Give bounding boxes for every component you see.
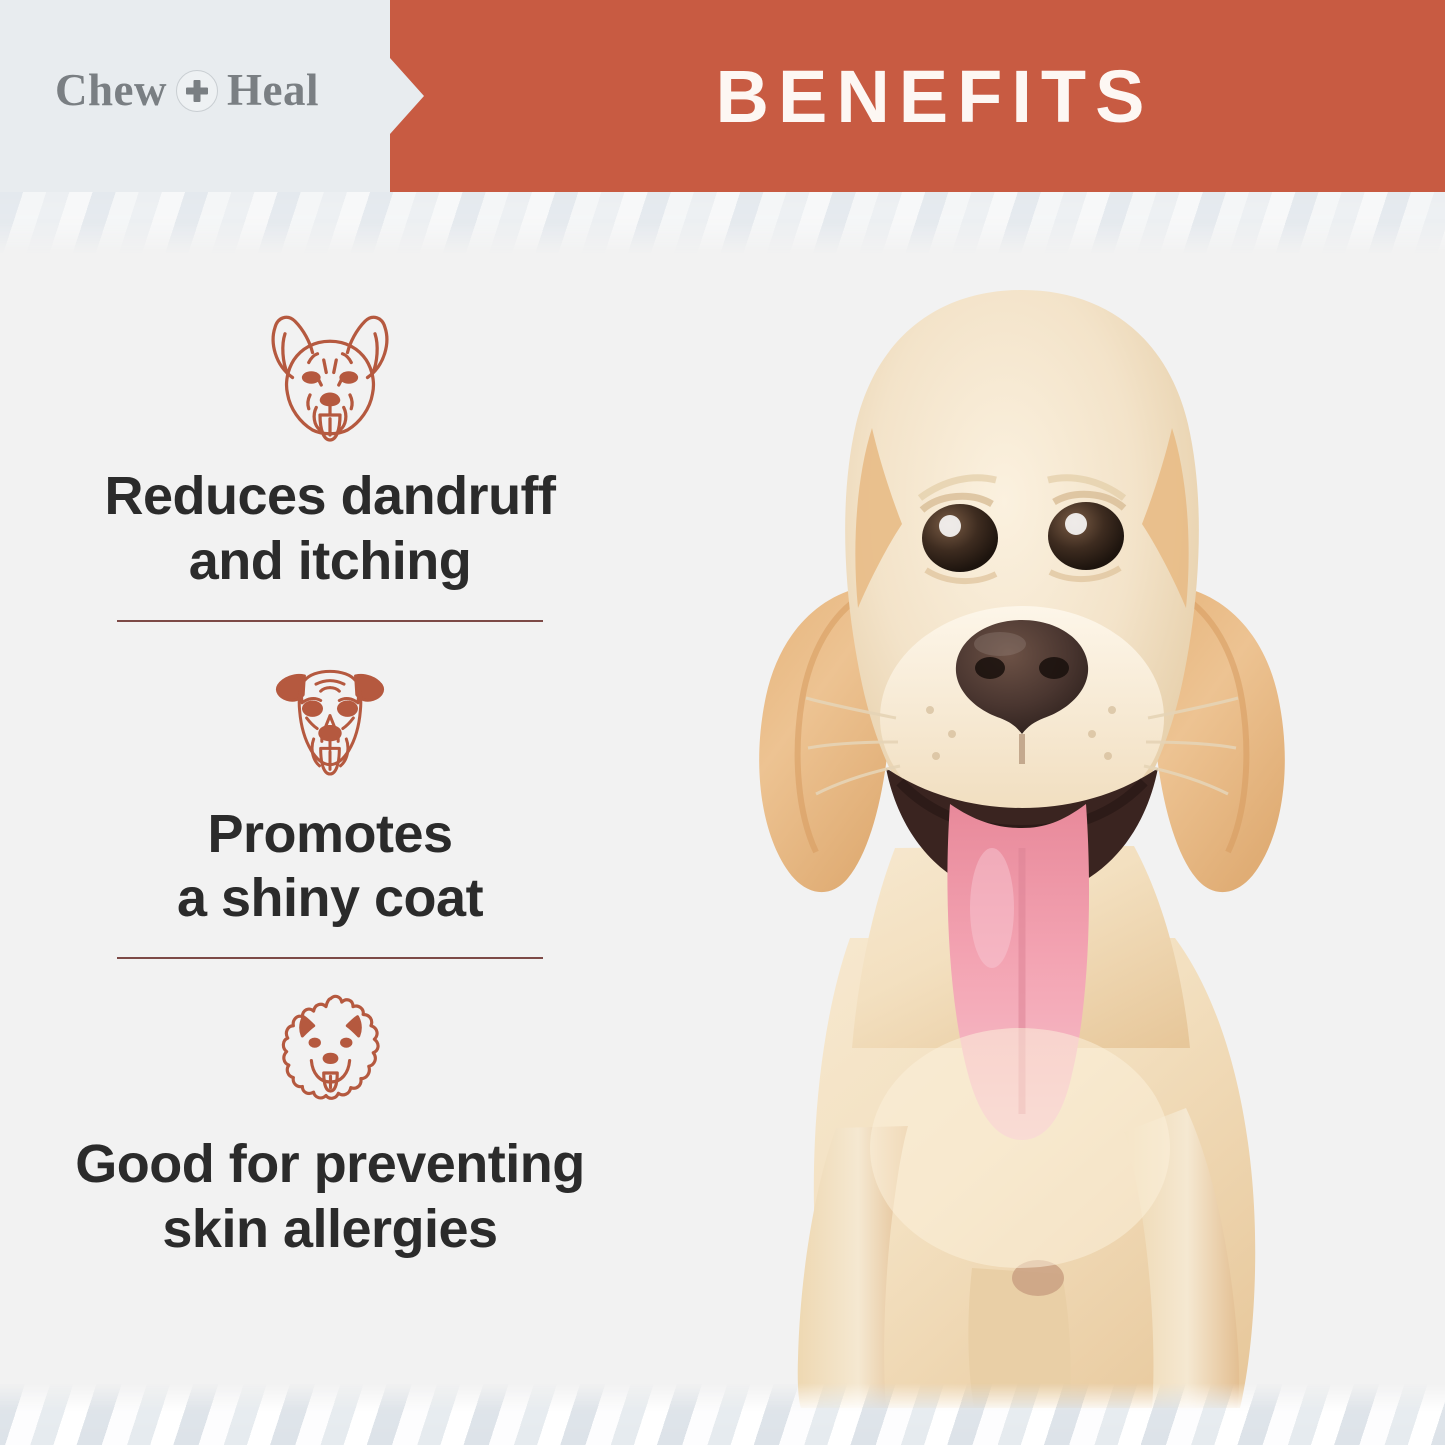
benefit-item: Promotes a shiny coat — [0, 648, 660, 960]
benefit-text: Promotes a shiny coat — [177, 802, 483, 932]
brand-logo: Chew Heal — [55, 68, 319, 113]
benefit-line-2: a shiny coat — [177, 866, 483, 931]
benefit-line-2: skin allergies — [75, 1197, 585, 1262]
fluffy-dog-face-icon — [263, 983, 398, 1118]
benefits-infographic: Chew Heal BENEFITS — [0, 0, 1445, 1445]
benefit-line-1: Promotes — [177, 802, 483, 867]
benefits-list: Reduces dandruff and itching — [0, 300, 660, 1262]
plus-circle-icon — [176, 70, 218, 112]
benefit-line-1: Reduces dandruff — [104, 464, 555, 529]
benefit-line-2: and itching — [104, 529, 555, 594]
brand-name-heal: Heal — [227, 68, 319, 113]
page-title: BENEFITS — [424, 0, 1445, 192]
benefit-text: Good for preventing skin allergies — [75, 1132, 585, 1262]
brand-name-chew: Chew — [55, 68, 167, 113]
header-bar: Chew Heal BENEFITS — [0, 0, 1445, 192]
benefit-divider — [117, 620, 543, 622]
benefit-item: Good for preventing skin allergies — [0, 983, 660, 1262]
stripe-band-bottom — [0, 1383, 1445, 1445]
benefit-item: Reduces dandruff and itching — [0, 300, 660, 622]
corgi-dog-face-icon — [255, 300, 405, 450]
terrier-dog-face-icon — [260, 648, 400, 788]
benefit-divider — [117, 957, 543, 959]
yellow-labrador-puppy-photo — [600, 248, 1445, 1408]
stripe-band-top — [0, 192, 1445, 254]
benefit-line-1: Good for preventing — [75, 1132, 585, 1197]
benefit-text: Reduces dandruff and itching — [104, 464, 555, 594]
